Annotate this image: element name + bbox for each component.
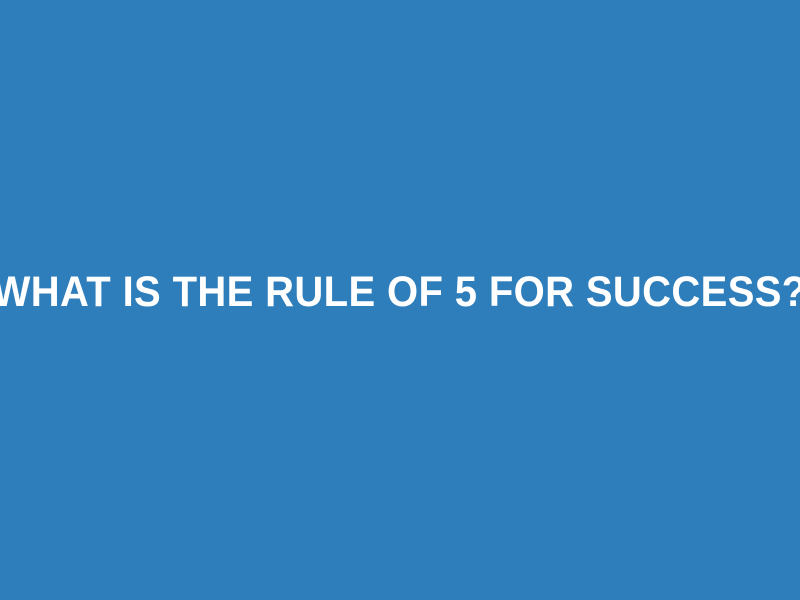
banner-card: WHAT IS THE RULE OF 5 FOR SUCCESS? <box>0 0 800 600</box>
banner-title: WHAT IS THE RULE OF 5 FOR SUCCESS? <box>0 270 800 315</box>
banner-title-container: WHAT IS THE RULE OF 5 FOR SUCCESS? <box>0 270 800 315</box>
